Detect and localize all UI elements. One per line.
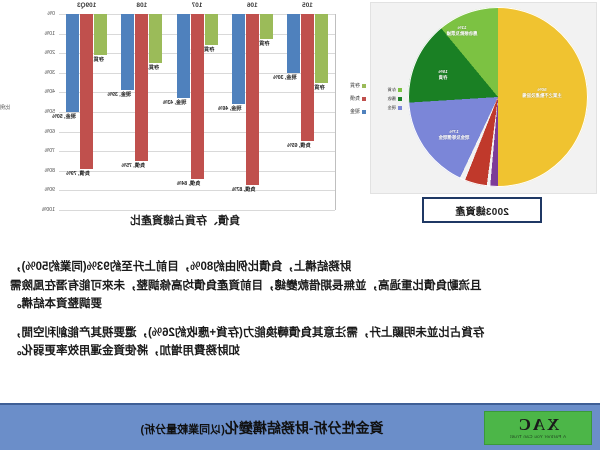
xac-logo: XAC A Partner You Can Trust — [484, 411, 592, 445]
y-axis-tick-label: 10% — [31, 31, 55, 37]
pie-legend-label: 應收 — [388, 96, 396, 102]
legend-swatch-icon — [362, 84, 366, 88]
legend-swatch-icon — [362, 110, 366, 114]
legend-swatch-icon — [398, 88, 402, 92]
paragraph-1: 財務結構上，負債比例由約80%，目前上升至約93%(同業約50%)， 且流動負債… — [10, 258, 590, 314]
x-axis-tick-label: 106 — [225, 2, 280, 9]
x-axis-tick-label: 105 — [280, 2, 335, 9]
slide-footer-title: 資金性分析-財務結構變化(以同業較量分析) — [0, 418, 484, 438]
logo-text: XAC — [517, 416, 560, 433]
paragraph-1-line-2: 且流動負債比重過高，並無長期借款變總，目前資產負債均高條調整，未來可能有潛在風險… — [10, 277, 590, 296]
x-axis-tick-label: 108 — [114, 2, 169, 9]
paragraph-2-line-2: 如財務費用増加，將使資金運用效率更弱化。 — [10, 342, 590, 361]
y-axis-tick-label: 0% — [31, 11, 55, 17]
bar-負債: 負債, 87% — [246, 14, 259, 185]
pie-slice-label-receivables: 11% 應收帳款及票據 — [434, 25, 490, 36]
gridline — [59, 210, 335, 211]
bar-group: 109Q3存貨, 21%負債, 79%現金, 50% — [59, 14, 114, 210]
bar-legend-item-cash: 現金 — [338, 108, 366, 115]
bar-存貨: 存貨, 21% — [94, 14, 107, 55]
bar-group: 105存貨, 35%負債, 65%現金, 30% — [280, 14, 335, 210]
bar-現金: 現金, 50% — [66, 14, 79, 112]
pie-chart: 11% 應收帳款及票據 15% 存貨 17% 現金及等價現金 50% 主業之不動… — [408, 7, 588, 187]
bar-存貨: 存貨, 35% — [315, 14, 328, 83]
pie-legend: 存貨 應收 現金 — [376, 87, 402, 114]
pie-slice-name-cash: 現金及等價現金 — [439, 135, 470, 140]
bar-data-label: 負債, 84% — [166, 180, 212, 187]
bar-存貨: 存貨, 16% — [205, 14, 218, 45]
pie-legend-label: 現金 — [388, 105, 396, 111]
y-axis-tick-label: 20% — [31, 50, 55, 56]
bar-現金: 現金, 30% — [287, 14, 300, 73]
bar-legend-item-liabilities: 負債 — [338, 95, 366, 102]
bar-data-label: 負債, 79% — [55, 170, 101, 177]
bar-data-label: 現金, 50% — [41, 113, 87, 120]
pie-legend-item-cash: 現金 — [376, 105, 402, 111]
y-axis-tick-label: 60% — [31, 129, 55, 135]
paragraph-1-line-3: 要調整資本結構。 — [10, 295, 590, 314]
bar-legend-label: 存貨 — [350, 82, 360, 89]
pie-slice-label-cash: 17% 現金及等價現金 — [428, 129, 480, 140]
bar-chart-title: 負債、存貨占總資產比 — [2, 212, 368, 228]
bar-現金: 現金, 46% — [232, 14, 245, 104]
legend-swatch-icon — [362, 97, 366, 101]
bar-存貨: 存貨, 13% — [260, 14, 273, 39]
slide-canvas: 11% 應收帳款及票據 15% 存貨 17% 現金及等價現金 50% 主業之不動… — [0, 0, 600, 450]
bar-data-label: 負債, 87% — [221, 186, 267, 193]
bar-負債: 負債, 75% — [135, 14, 148, 161]
bar-負債: 負債, 84% — [191, 14, 204, 179]
pie-slice-name-property: 主業之不動產及設備 — [522, 93, 562, 98]
bar-group: 107存貨, 16%負債, 84%現金, 43% — [169, 14, 224, 210]
bar-負債: 負債, 79% — [80, 14, 93, 169]
bar-chart-plot: 0%10%20%30%40%50%60%70%80%90%100%105存貨, … — [59, 14, 336, 210]
y-axis-tick-label: 80% — [31, 168, 55, 174]
pie-slice-label-inventory: 15% 存貨 — [426, 69, 460, 80]
pie-chart-title-box: 2003總資產 — [422, 197, 542, 223]
pie-slice-name-inventory: 存貨 — [439, 75, 448, 80]
bar-現金: 現金, 39% — [121, 14, 134, 90]
y-axis-tick-label: 70% — [31, 148, 55, 154]
bar-chart-panel: 0%10%20%30%40%50%60%70%80%90%100%105存貨, … — [2, 0, 368, 238]
bar-legend-item-inventory: 存貨 — [338, 82, 366, 89]
bar-legend-label: 現金 — [350, 108, 360, 115]
pie-legend-label: 存貨 — [388, 87, 396, 93]
logo-tagline: A Partner You Can Trust — [510, 434, 566, 439]
pie-chart-panel: 11% 應收帳款及票據 15% 存貨 17% 現金及等價現金 50% 主業之不動… — [370, 2, 597, 194]
body-text: 財務結構上，負債比例由約80%，目前上升至約93%(同業約50%)， 且流動負債… — [10, 258, 590, 371]
footer-title-sub: (以同業較量分析) — [141, 424, 225, 436]
pie-legend-item-receivables: 應收 — [376, 96, 402, 102]
x-axis-tick-label: 109Q3 — [59, 2, 114, 9]
legend-swatch-icon — [398, 106, 402, 110]
x-axis-tick-label: 107 — [169, 2, 224, 9]
bar-data-label: 負債, 65% — [276, 142, 322, 149]
pie-chart-title: 2003總資產 — [455, 203, 509, 218]
legend-swatch-icon — [398, 97, 402, 101]
footer-title-main: 資金性分析-財務結構變化 — [225, 420, 384, 436]
bar-group: 108存貨, 25%負債, 75%現金, 39% — [114, 14, 169, 210]
paragraph-2-line-1: 存貨占比並未明顯上升，需注意其負債轉換能力(存貨+應收約26%)，還要視其产能創… — [10, 324, 590, 343]
paragraph-1-line-1: 財務結構上，負債比例由約80%，目前上升至約93%(同業約50%)， — [10, 258, 590, 277]
bar-legend-label: 負債 — [350, 95, 360, 102]
y-axis-tick-label: 90% — [31, 187, 55, 193]
paragraph-2: 存貨占比並未明顯上升，需注意其負債轉換能力(存貨+應收約26%)，還要視其产能創… — [10, 324, 590, 361]
pie-legend-item-inventory: 存貨 — [376, 87, 402, 93]
bar-data-label: 負債, 75% — [110, 162, 156, 169]
bar-chart-y-axis-label: 比例 — [0, 104, 10, 111]
bar-現金: 現金, 43% — [177, 14, 190, 98]
bar-legend: 存貨 負債 現金 — [338, 82, 366, 121]
bar-group: 106存貨, 13%負債, 87%現金, 46% — [225, 14, 280, 210]
pie-slice-label-property: 50% 主業之不動產及設備 — [504, 87, 580, 98]
y-axis-tick-label: 30% — [31, 70, 55, 76]
slide-footer: XAC A Partner You Can Trust 資金性分析-財務結構變化… — [0, 403, 600, 450]
pie-slice-name-receivables: 應收帳款及票據 — [447, 31, 478, 36]
y-axis-tick-label: 40% — [31, 89, 55, 95]
bar-存貨: 存貨, 25% — [149, 14, 162, 63]
